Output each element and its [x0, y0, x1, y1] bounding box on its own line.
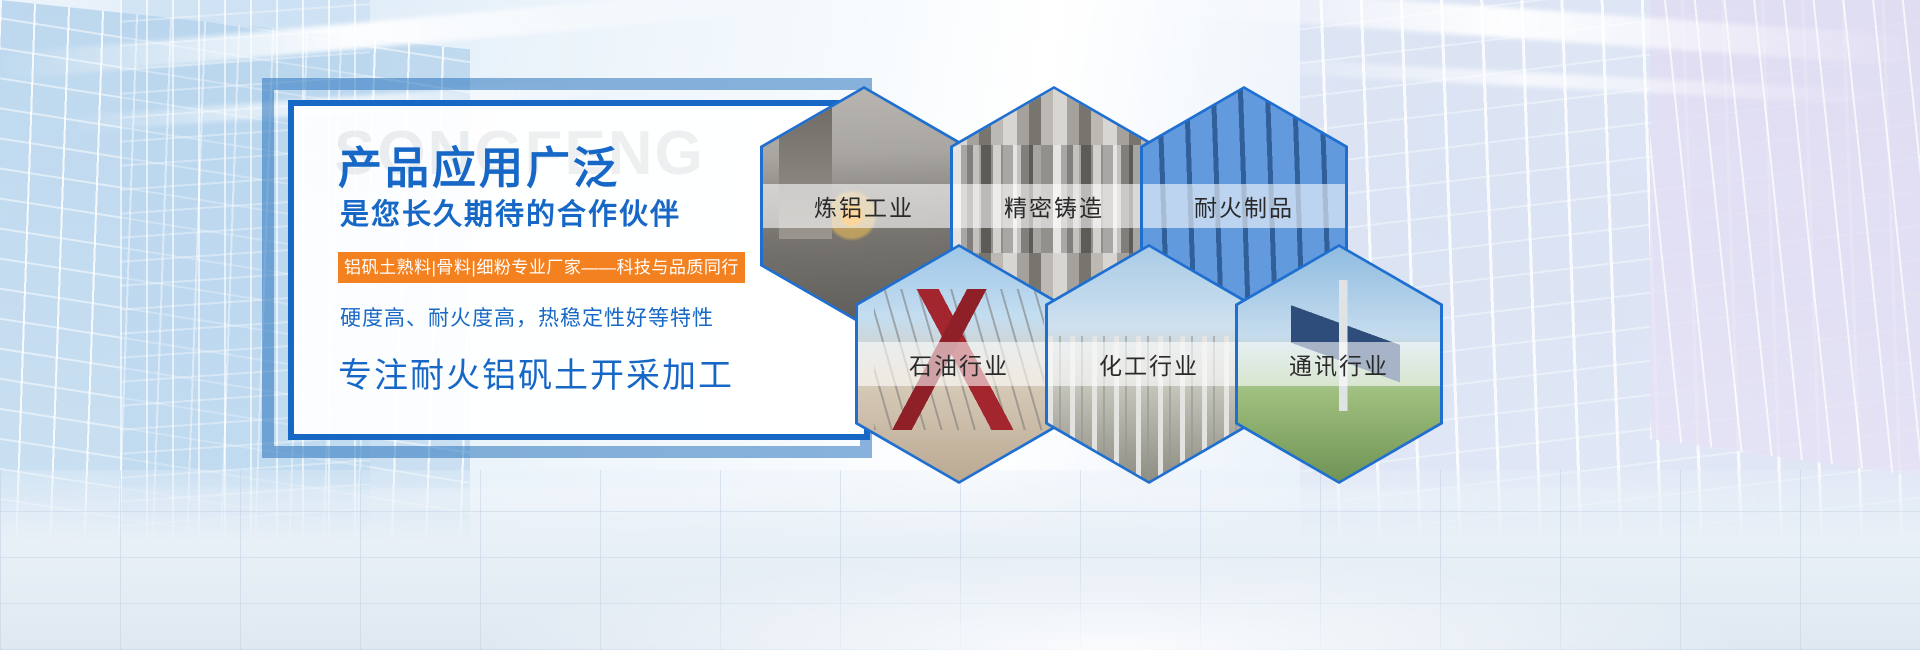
tagline-badge: 铝矾土熟料|骨料|细粉专业厂家——科技与品质同行	[338, 252, 745, 283]
page-title: 产品应用广泛	[338, 132, 620, 196]
glass-building-far-right	[1650, 0, 1920, 481]
page-subtitle: 是您长久期待的合作伙伴	[340, 191, 681, 233]
hex-label-chem: 化工行业	[1048, 342, 1250, 386]
floor-reflection	[0, 470, 1920, 650]
feature-text: 硬度高、耐火度高，热稳定性好等特性	[340, 302, 714, 332]
hex-label-comm: 通讯行业	[1238, 342, 1440, 386]
hex-label-alum: 炼铝工业	[763, 184, 965, 228]
hex-label-brick: 耐火制品	[1143, 184, 1345, 228]
industry-hexagon-gallery: 炼铝工业 精密铸造 耐火制品 石油行业 化工行业	[760, 86, 1400, 486]
hex-label-oil: 石油行业	[858, 342, 1060, 386]
promotional-banner: SONGFENG 产品应用广泛 是您长久期待的合作伙伴 铝矾土熟料|骨料|细粉专…	[0, 0, 1920, 650]
hex-label-cast: 精密铸造	[953, 184, 1155, 228]
bottom-headline: 专注耐火铝矾土开采加工	[338, 348, 734, 397]
